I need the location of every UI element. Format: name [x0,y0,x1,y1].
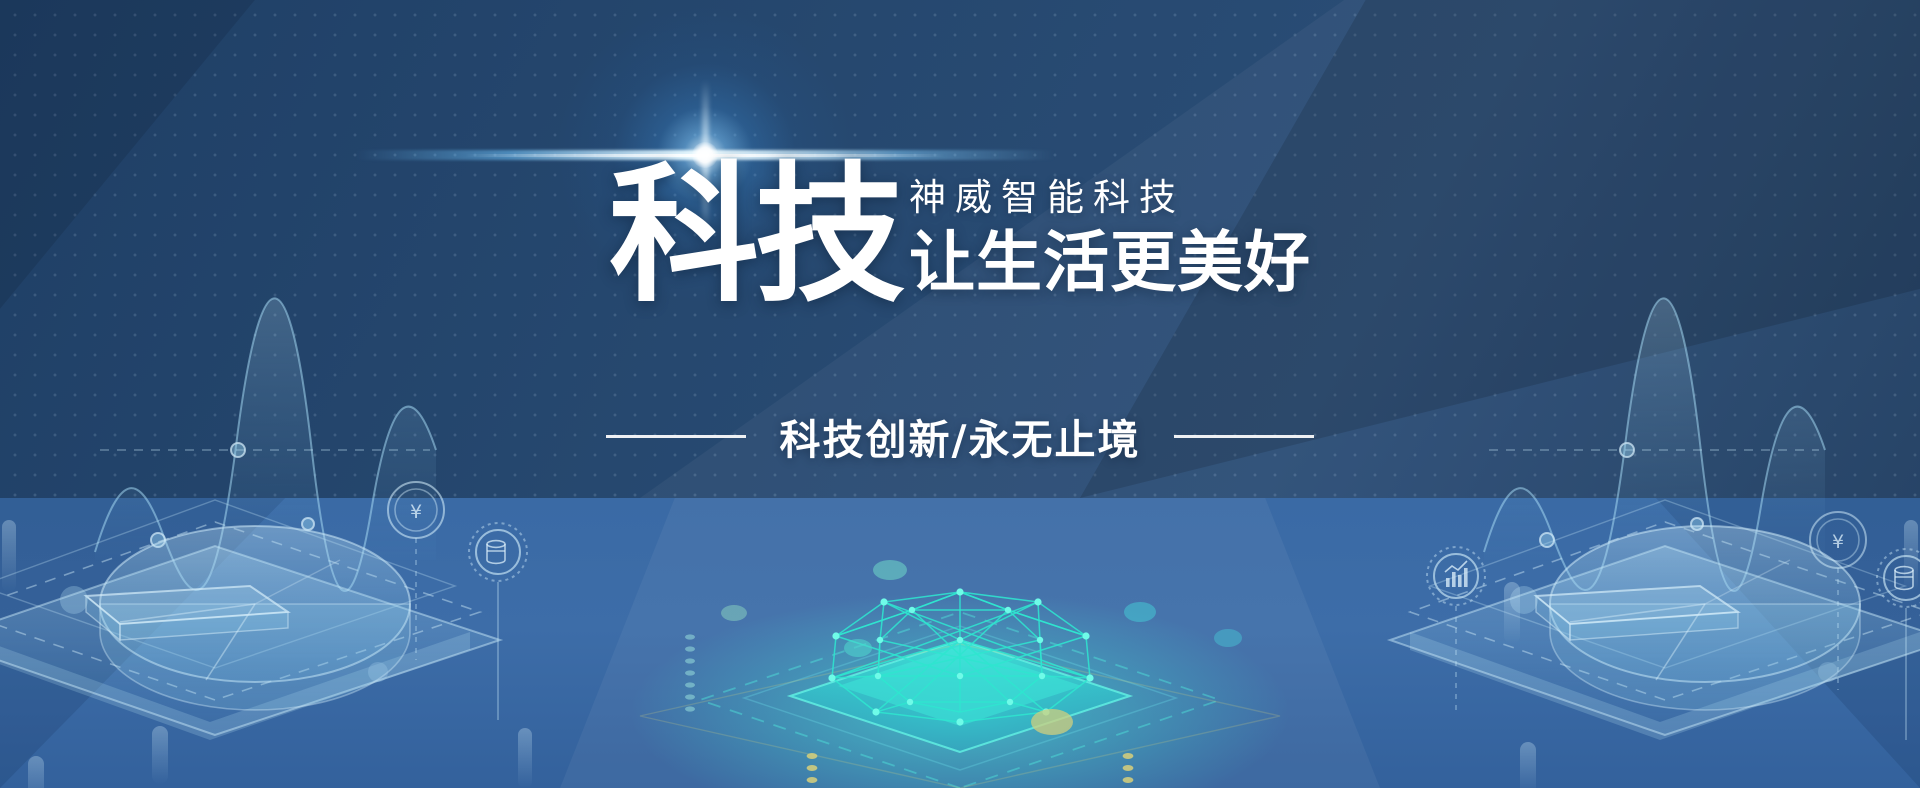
floating-sphere [60,586,88,614]
headline-side-stack: 神威智能科技 让生活更美好 [909,170,1311,297]
dot-column-gold-right [1123,753,1134,783]
tagline-row: 科技创新/永无止境 [0,406,1920,466]
tagline-rule-left [606,435,746,438]
tagline-rule-right [1174,435,1314,438]
svg-text:¥: ¥ [410,501,422,523]
banner-copy: 科技 神威智能科技 让生活更美好 科技创新/永无止境 [0,0,1920,498]
hero-banner: ¥ [0,0,1920,788]
brand-name: 神威智能科技 [909,178,1311,219]
pillar [518,728,532,788]
scene-center [630,560,1290,788]
headline-keyword: 科技 [609,164,901,308]
slogan: 让生活更美好 [909,229,1311,298]
pillar [1520,742,1536,788]
database-badge-left [469,523,527,720]
pillar [1504,582,1520,644]
dot-column-gold-left [807,753,818,783]
floating-sphere [368,662,388,682]
floating-sphere [1818,662,1838,682]
svg-text:¥: ¥ [1832,531,1844,553]
tagline: 科技创新/永无止境 [780,406,1141,466]
pillar [152,726,168,784]
pillar [2,520,16,592]
pillar [28,756,44,788]
headline-row: 科技 神威智能科技 让生活更美好 [0,170,1920,308]
